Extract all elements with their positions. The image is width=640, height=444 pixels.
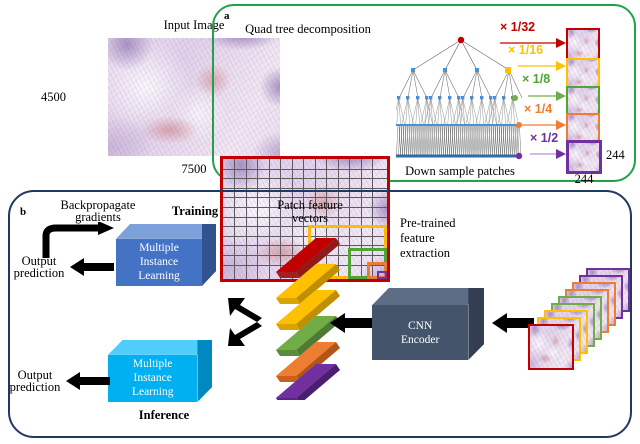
- feature-to-inference-arrow: [228, 322, 262, 348]
- input-image-height-label: 4500: [6, 90, 66, 104]
- patch-width-label: 244: [560, 172, 608, 186]
- cnn-encoder-box: CNN Encoder: [372, 288, 484, 360]
- training-label: Training: [150, 204, 240, 218]
- feature-to-training-arrow: [228, 296, 262, 322]
- training-output-arrow: [70, 258, 114, 276]
- inference-mil-box-face: Multiple Instance Learning: [108, 355, 197, 402]
- inference-mil-box-side: [197, 340, 212, 402]
- cnn-to-features-arrow: [330, 313, 372, 333]
- inference-mil-box: Multiple Instance Learning: [108, 340, 212, 402]
- quadtree-title: Quad tree decomposition: [220, 22, 396, 36]
- scale-label-1-4: × 1/4: [524, 102, 552, 116]
- scale-label-1-8: × 1/8: [522, 72, 550, 86]
- patch-thumbnail-1-2: [566, 140, 602, 174]
- patch-stack: [526, 268, 632, 374]
- scale-arrow-1-8: [528, 89, 566, 103]
- patch-thumbnail-1-32: [566, 28, 600, 62]
- patch-feature-vectors-label-line2: vectors: [262, 211, 358, 225]
- scale-label-1-32: × 1/32: [500, 20, 535, 34]
- inference-output-arrow: [66, 372, 110, 390]
- inference-mil-line2: Instance: [134, 371, 172, 385]
- training-mil-line2: Instance: [140, 255, 178, 269]
- training-mil-box-face: Multiple Instance Learning: [116, 239, 202, 286]
- training-mil-box-top: [116, 224, 216, 239]
- pretrained-label-line1: Pre-trained: [400, 216, 456, 230]
- backpropagate-arrow: [38, 222, 116, 258]
- training-mil-line3: Learning: [138, 269, 180, 283]
- cnn-encoder-line2: Encoder: [401, 333, 439, 347]
- panel-a-letter: a: [224, 10, 230, 22]
- stack-patch-red-front: [528, 324, 574, 370]
- inference-mil-box-top: [108, 340, 212, 355]
- training-output-prediction-line2: prediction: [2, 266, 76, 280]
- pretrained-label-line2: feature: [400, 231, 435, 245]
- cnn-encoder-box-top: [372, 288, 484, 305]
- patch-feature-vectors-label-line1: Patch feature: [262, 198, 358, 212]
- inference-mil-line1: Multiple: [133, 357, 173, 371]
- cnn-encoder-line1: CNN: [408, 319, 432, 333]
- scale-label-1-16: × 1/16: [508, 43, 543, 57]
- inference-output-prediction-line2: prediction: [0, 380, 70, 394]
- panel-b-letter: b: [20, 206, 26, 218]
- training-mil-box-side: [202, 224, 216, 286]
- downsample-patches-caption: Down sample patches: [382, 164, 538, 178]
- scale-arrow-1-2: [530, 147, 566, 161]
- cnn-encoder-box-face: CNN Encoder: [372, 305, 468, 360]
- inference-label: Inference: [116, 408, 212, 422]
- training-mil-box: Multiple Instance Learning: [116, 224, 216, 286]
- scale-label-1-2: × 1/2: [530, 131, 558, 145]
- patch-height-label: 244: [606, 148, 625, 162]
- pretrained-label-line3: extraction: [400, 246, 450, 260]
- scale-arrow-1-4: [522, 118, 566, 132]
- inference-mil-line3: Learning: [132, 385, 174, 399]
- cnn-encoder-box-side: [468, 288, 484, 360]
- scale-arrow-1-16: [518, 59, 566, 73]
- training-mil-line1: Multiple: [139, 241, 179, 255]
